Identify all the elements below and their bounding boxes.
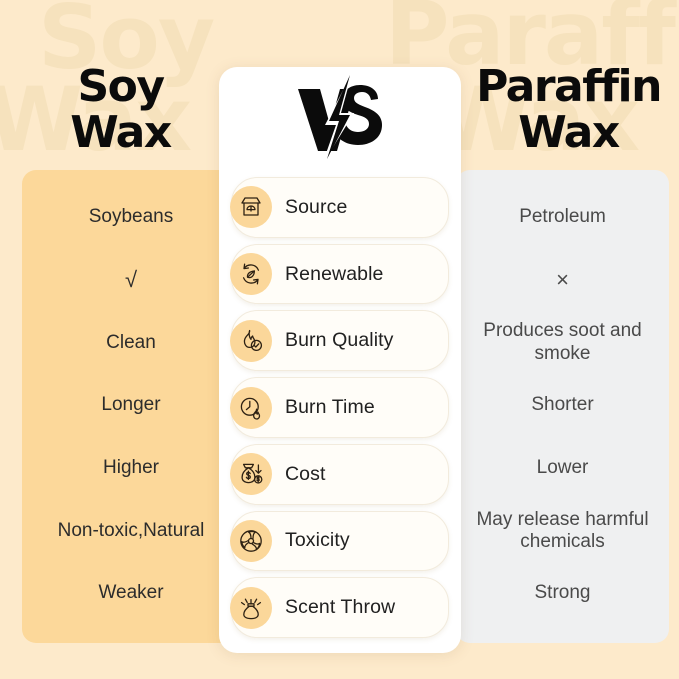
feature-row-toxicity[interactable]: Toxicity	[231, 511, 449, 572]
money-bag-down-arrow-icon	[230, 453, 272, 495]
paraffin-value-source: Petroleum	[456, 186, 669, 249]
feature-row-cost[interactable]: Cost	[231, 444, 449, 505]
paraffin-value-burn-time: Shorter	[456, 374, 669, 437]
flame-check-icon	[230, 320, 272, 362]
paraffin-value-renewable: ×	[456, 249, 669, 312]
feature-label-scent-throw: Scent Throw	[285, 596, 395, 619]
paraffin-wax-title-line2: Wax	[458, 110, 679, 156]
paraffin-value-cost: Lower	[456, 437, 669, 500]
paraffin-wax-title-line1: Paraffin	[458, 64, 679, 110]
feature-label-source: Source	[285, 196, 347, 219]
soy-wax-title-line1: Soy	[18, 64, 223, 110]
soy-value-cost: Higher	[22, 437, 240, 500]
feature-row-source[interactable]: Source	[231, 177, 449, 238]
soy-value-burn-quality: Clean	[22, 311, 240, 374]
feature-row-renewable[interactable]: Renewable	[231, 244, 449, 305]
soy-value-renewable: √	[22, 249, 240, 312]
paraffin-wax-title: Paraffin Wax	[458, 64, 679, 156]
soy-value-scent-throw: Weaker	[22, 562, 240, 625]
biohazard-icon	[230, 520, 272, 562]
clock-flame-icon	[230, 387, 272, 429]
paraffin-value-burn-quality: Produces soot and smoke	[456, 311, 669, 374]
feature-row-burn-time[interactable]: Burn Time	[231, 377, 449, 438]
feature-label-cost: Cost	[285, 463, 326, 486]
feature-label-toxicity: Toxicity	[285, 529, 350, 552]
recycle-leaf-icon	[230, 253, 272, 295]
soy-wax-title-line2: Wax	[18, 110, 223, 156]
vs-lightning-icon	[292, 73, 388, 165]
soy-wax-title: Soy Wax	[18, 64, 223, 156]
feature-rows-list: Source Renewable	[219, 170, 461, 653]
feature-label-renewable: Renewable	[285, 263, 383, 286]
feature-label-burn-quality: Burn Quality	[285, 329, 394, 352]
comparison-center-card: Source Renewable	[219, 67, 461, 653]
paraffin-value-toxicity: May release harmful chemicals	[456, 500, 669, 563]
feature-row-burn-quality[interactable]: Burn Quality	[231, 310, 449, 371]
soy-value-burn-time: Longer	[22, 374, 240, 437]
paraffin-wax-values-panel: Petroleum × Produces soot and smoke Shor…	[456, 170, 669, 643]
vs-logo-wrapper	[219, 67, 461, 170]
soy-value-source: Soybeans	[22, 186, 240, 249]
feature-row-scent-throw[interactable]: Scent Throw	[231, 577, 449, 638]
soy-wax-values-panel: Soybeans √ Clean Longer Higher Non-toxic…	[22, 170, 240, 643]
seed-sack-icon	[230, 186, 272, 228]
feature-label-burn-time: Burn Time	[285, 396, 375, 419]
scent-diffuser-icon	[230, 587, 272, 629]
paraffin-value-scent-throw: Strong	[456, 562, 669, 625]
soy-value-toxicity: Non-toxic,Natural	[22, 500, 240, 563]
